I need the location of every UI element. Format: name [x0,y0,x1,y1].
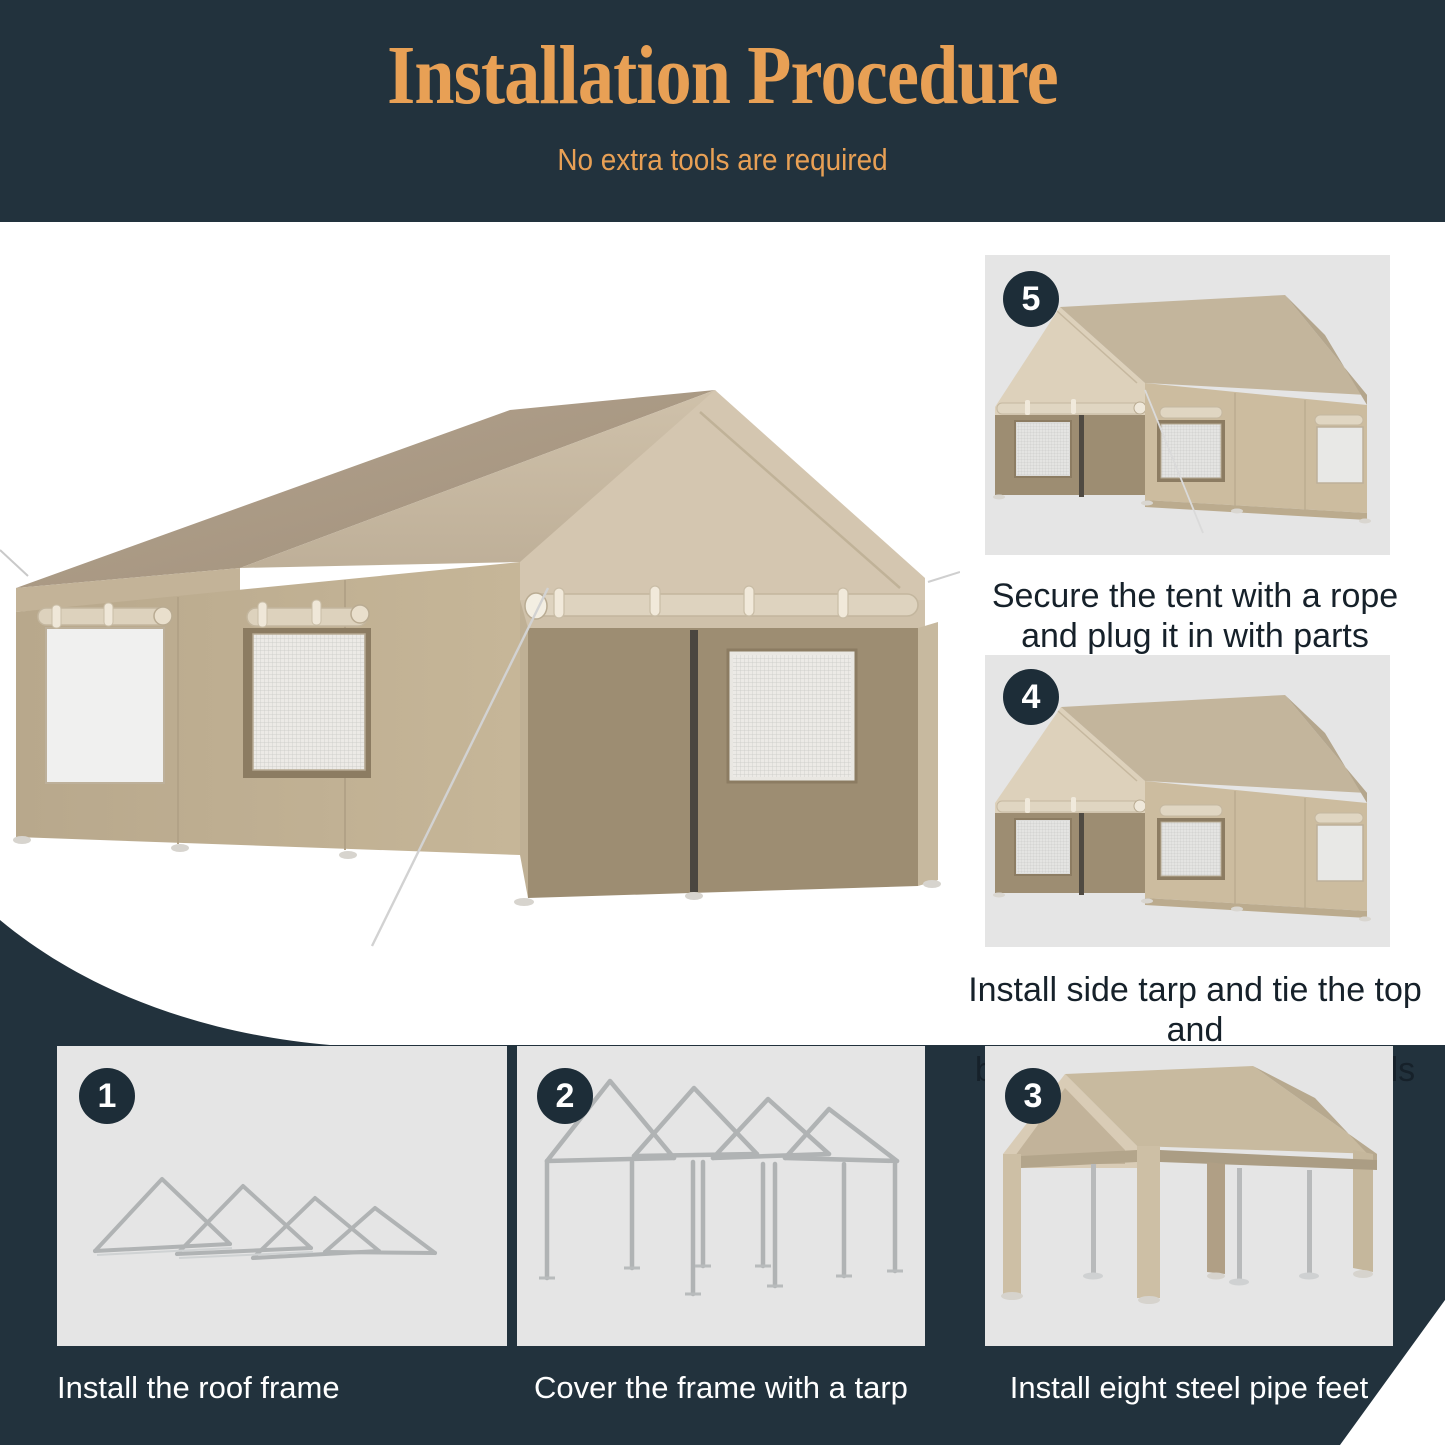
step-caption-3: Install eight steel pipe feet [985,1370,1393,1407]
step-caption-2: Cover the frame with a tarp [517,1370,925,1407]
step-badge-1: 1 [79,1068,135,1124]
page-subtitle: No extra tools are required [72,142,1373,178]
step-badge-2: 2 [537,1068,593,1124]
step-caption-1: Install the roof frame [57,1370,507,1407]
step-panel-5: 5 [985,255,1390,555]
page-title: Installation Procedure [101,34,1344,118]
guy-rope-left [0,550,28,576]
step-panel-4: 4 [985,655,1390,947]
step-badge-4: 4 [1003,669,1059,725]
step-caption-5: Secure the tent with a rope and plug it … [960,576,1430,656]
header-banner: Installation Procedure No extra tools ar… [0,0,1445,222]
step-badge-3: 3 [1005,1068,1061,1124]
step-badge-5: 5 [1003,271,1059,327]
step-panel-1: 1 [57,1046,507,1346]
step-panel-2: 2 [517,1046,925,1346]
step-panel-3: 3 [985,1046,1393,1346]
guy-rope-right [928,572,960,582]
hero-image-assembled-tent [0,350,960,990]
